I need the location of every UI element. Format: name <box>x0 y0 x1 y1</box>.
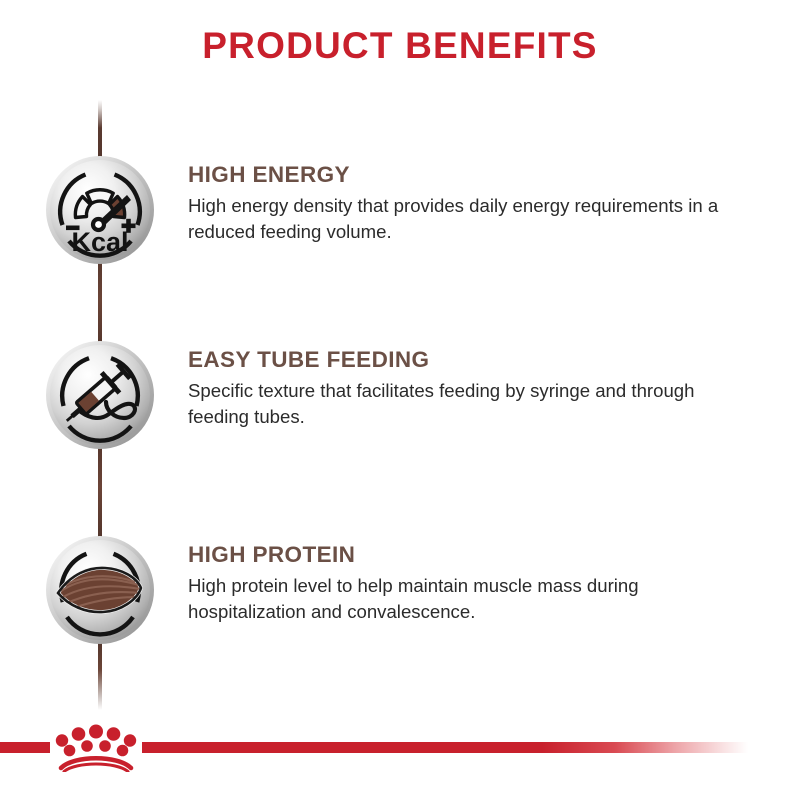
benefit-text-block: HIGH ENERGY High energy density that pro… <box>188 161 748 244</box>
kcal-gauge-icon: Kcal <box>45 155 155 265</box>
benefit-heading: HIGH ENERGY <box>188 161 748 189</box>
connector-line-bottom <box>98 642 102 710</box>
connector-line-middle-1 <box>98 252 102 348</box>
benefit-heading: HIGH PROTEIN <box>188 541 748 569</box>
connector-line-middle-2 <box>98 437 102 538</box>
benefit-body: Specific texture that facilitates feedin… <box>188 378 748 429</box>
footer-bar-left <box>0 742 50 753</box>
product-benefits-page: PRODUCT BENEFITS <box>0 0 800 800</box>
connector-line-top <box>98 100 102 162</box>
page-title: PRODUCT BENEFITS <box>0 20 800 72</box>
muscle-fiber-icon <box>45 535 155 645</box>
benefit-body: High protein level to help maintain musc… <box>188 573 748 624</box>
royal-canin-crown-icon <box>52 722 140 772</box>
footer-bar-right <box>142 742 748 753</box>
benefit-text-block: HIGH PROTEIN High protein level to help … <box>188 541 748 624</box>
benefit-heading: EASY TUBE FEEDING <box>188 346 748 374</box>
benefit-body: High energy density that provides daily … <box>188 193 748 244</box>
syringe-feeding-tube-icon <box>45 340 155 450</box>
benefit-text-block: EASY TUBE FEEDING Specific texture that … <box>188 346 748 429</box>
